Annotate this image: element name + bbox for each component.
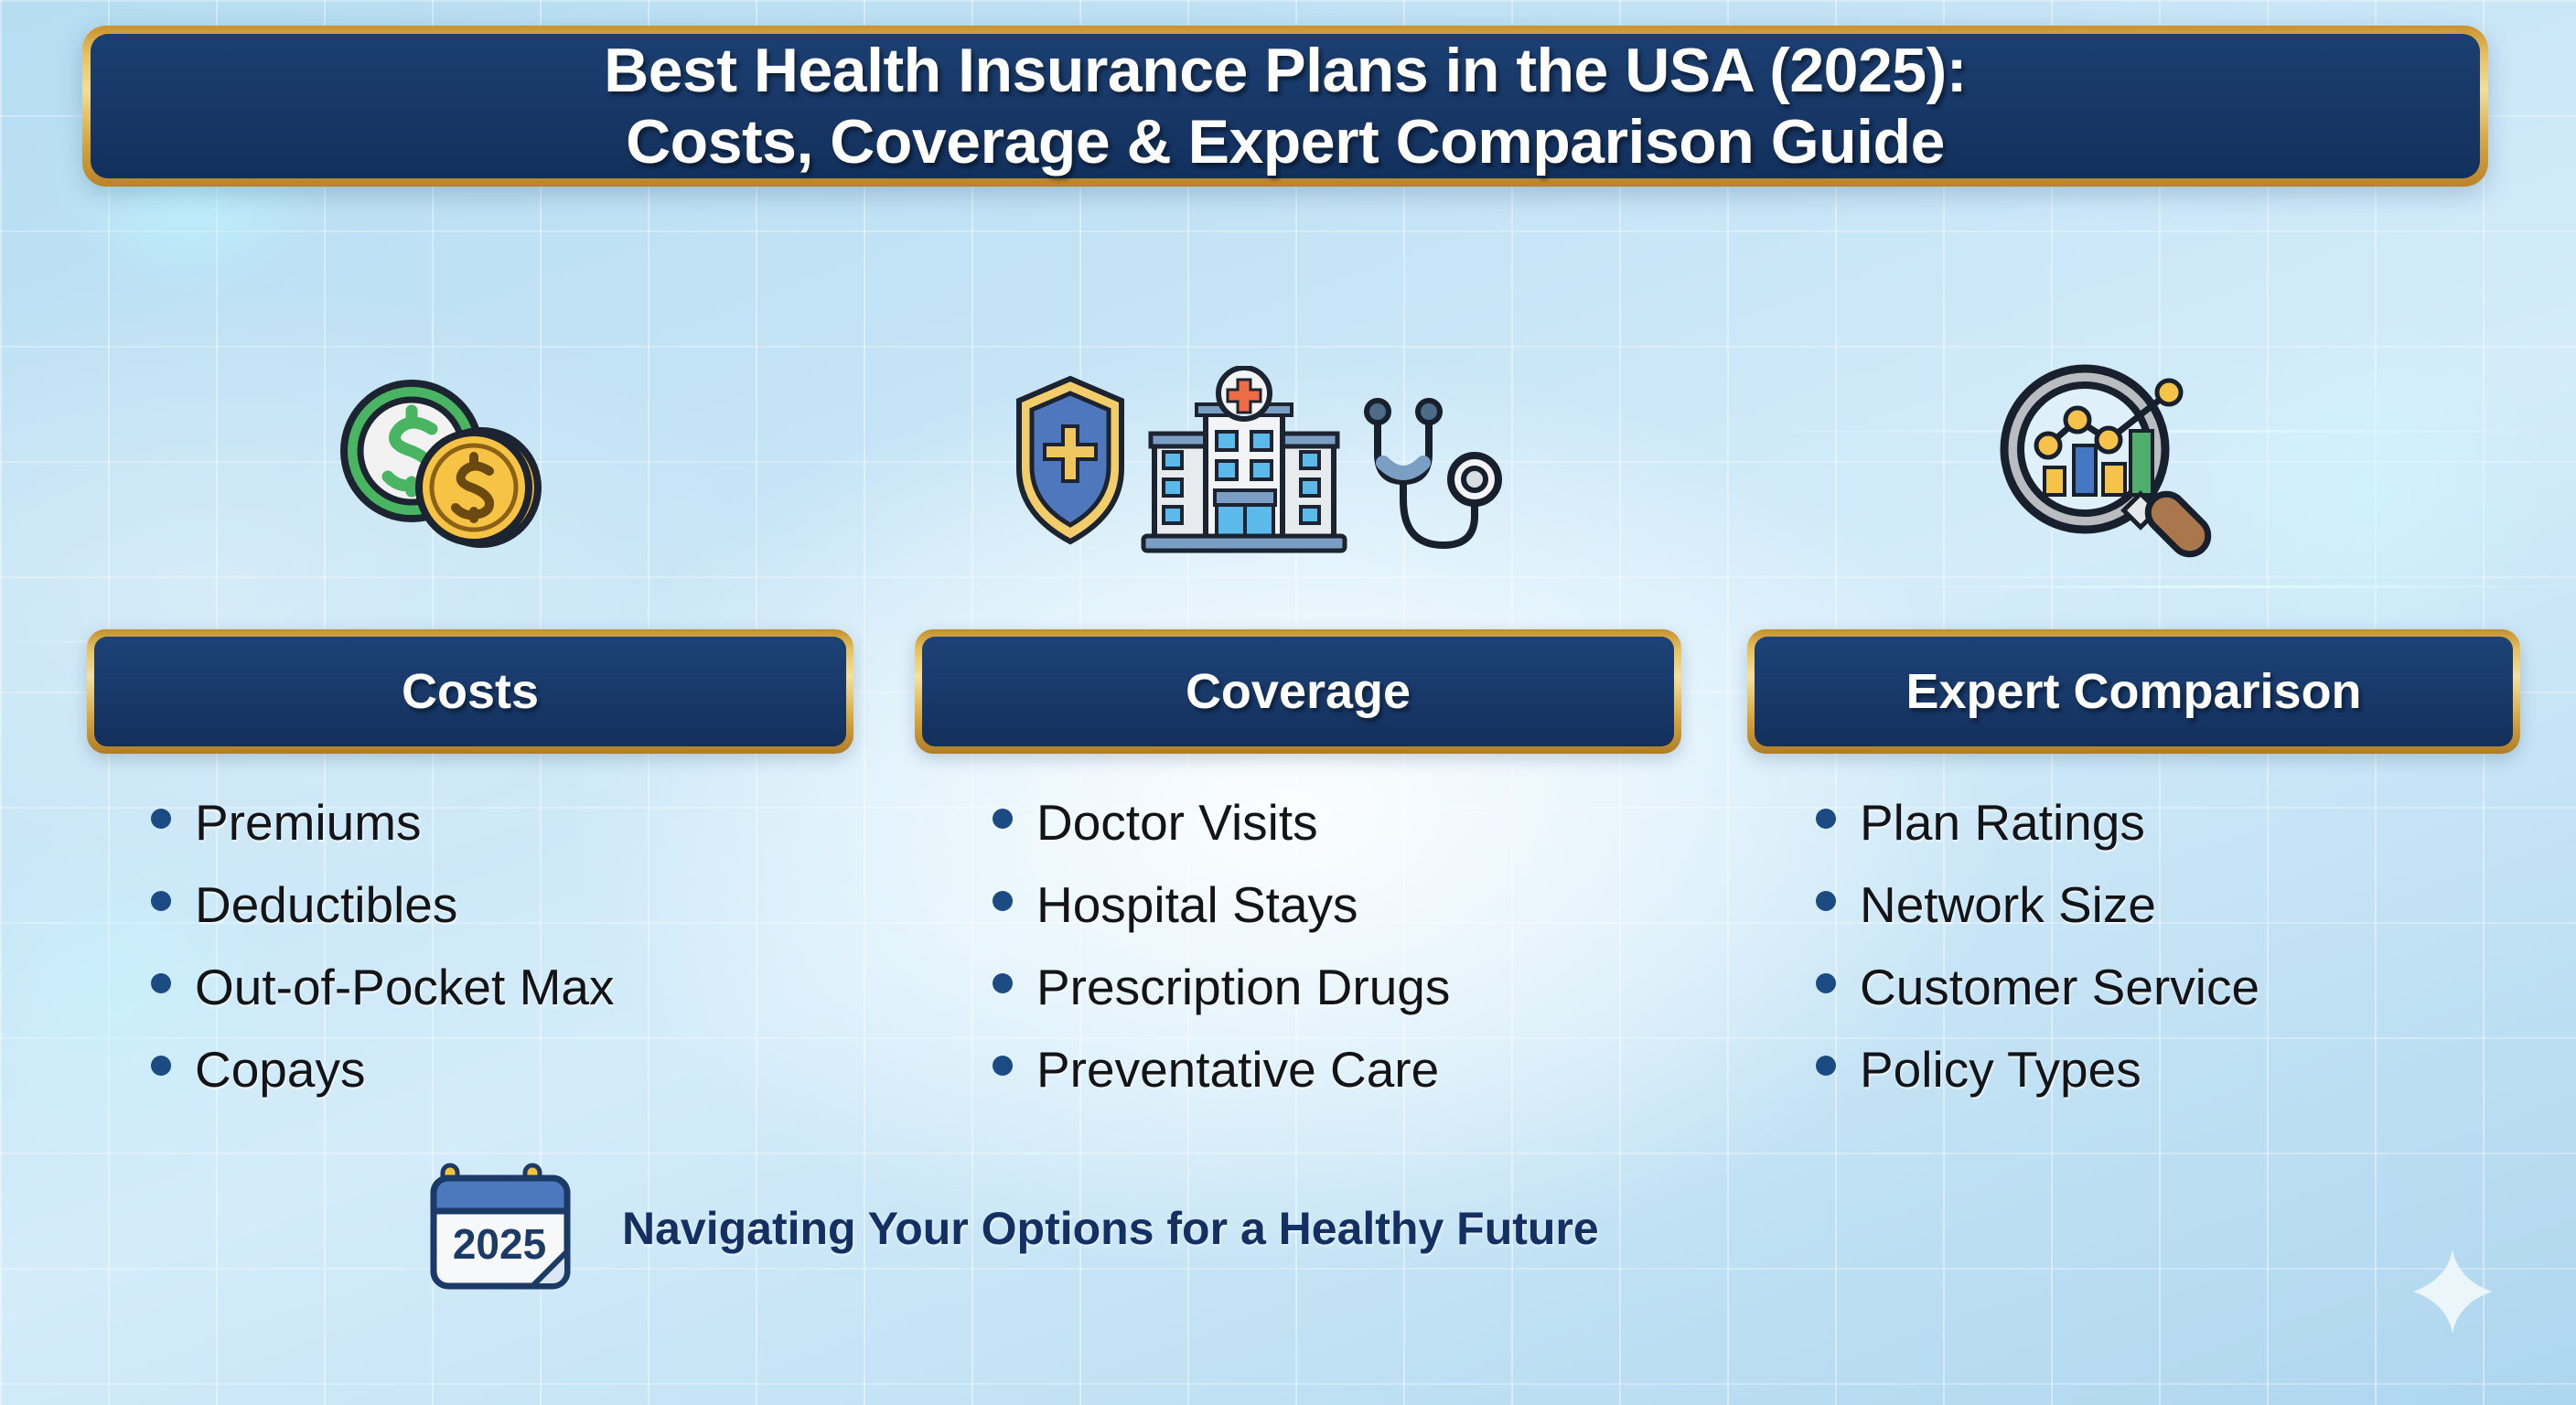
list-item: Doctor Visits [993, 794, 1450, 876]
list-item-label: Copays [195, 1041, 365, 1098]
list-item: Customer Service [1816, 959, 2259, 1041]
section-heading-coverage: Coverage [1186, 663, 1411, 720]
section-heading-expert-comparison: Expert Comparison [1905, 663, 2361, 720]
page-title-line-2: Costs, Coverage & Expert Comparison Guid… [626, 106, 1945, 177]
section-banner-costs-inner: Costs [94, 637, 846, 746]
page-title-line-1: Best Health Insurance Plans in the USA (… [604, 35, 1967, 106]
column-expert-comparison-icon-area [1692, 348, 2516, 576]
footer-tagline: Navigating Your Options for a Healthy Fu… [622, 1202, 1599, 1255]
list-item: Out-of-Pocket Max [151, 959, 614, 1041]
list-item-label: Customer Service [1860, 959, 2259, 1015]
bullet-dot-icon [1816, 973, 1836, 993]
bullet-dot-icon [993, 973, 1013, 993]
column-costs-icon-area [26, 348, 849, 576]
list-item-label: Doctor Visits [1036, 794, 1318, 851]
bullet-dot-icon [1816, 1056, 1836, 1076]
bullet-dot-icon [1816, 809, 1836, 829]
bullet-dot-icon [993, 809, 1013, 829]
bullet-dot-icon [993, 891, 1013, 911]
bullet-dot-icon [151, 809, 171, 829]
list-item-label: Hospital Stays [1036, 876, 1358, 933]
list-item: Plan Ratings [1816, 794, 2259, 876]
list-item: Hospital Stays [993, 876, 1450, 959]
section-banner-coverage-inner: Coverage [922, 637, 1674, 746]
shield-hospital-stethoscope-icon [851, 348, 1674, 576]
section-banner-costs: Costs [87, 629, 853, 754]
list-item-label: Out-of-Pocket Max [195, 959, 614, 1015]
footer: 2025 Navigating Your Options for a Healt… [430, 1162, 1599, 1294]
bullet-list-coverage: Doctor Visits Hospital Stays Prescriptio… [993, 794, 1450, 1123]
title-banner-inner: Best Health Insurance Plans in the USA (… [91, 34, 2480, 178]
list-item-label: Deductibles [195, 876, 457, 933]
calendar-year-label: 2025 [453, 1220, 546, 1268]
calendar-icon: 2025 [430, 1162, 576, 1294]
bullet-dot-icon [151, 891, 171, 911]
section-banner-coverage: Coverage [915, 629, 1681, 754]
bullet-dot-icon [151, 1056, 171, 1076]
list-item-label: Prescription Drugs [1036, 959, 1450, 1015]
infographic-canvas: Best Health Insurance Plans in the USA (… [0, 0, 2576, 1405]
list-item: Copays [151, 1041, 614, 1123]
section-heading-costs: Costs [402, 663, 539, 720]
background-light-streak [1875, 585, 2571, 588]
section-banner-expert-comparison: Expert Comparison [1747, 629, 2520, 754]
list-item-label: Policy Types [1860, 1041, 2141, 1098]
list-item: Prescription Drugs [993, 959, 1450, 1041]
list-item: Premiums [151, 794, 614, 876]
magnifier-chart-icon [1692, 348, 2516, 576]
column-coverage-icon-area [851, 348, 1674, 576]
bullet-list-expert-comparison: Plan Ratings Network Size Customer Servi… [1816, 794, 2259, 1123]
bullet-list-costs: Premiums Deductibles Out-of-Pocket Max C… [151, 794, 614, 1123]
list-item: Preventative Care [993, 1041, 1450, 1123]
list-item-label: Plan Ratings [1860, 794, 2145, 851]
list-item: Network Size [1816, 876, 2259, 959]
title-banner: Best Health Insurance Plans in the USA (… [82, 26, 2488, 187]
bullet-dot-icon [1816, 891, 1836, 911]
list-item-label: Preventative Care [1036, 1041, 1439, 1098]
bullet-dot-icon [993, 1056, 1013, 1076]
list-item: Policy Types [1816, 1041, 2259, 1123]
money-coins-icon [26, 348, 849, 576]
sparkle-icon [2413, 1249, 2492, 1334]
bullet-dot-icon [151, 973, 171, 993]
list-item-label: Premiums [195, 794, 422, 851]
section-banner-expert-comparison-inner: Expert Comparison [1755, 637, 2513, 746]
list-item: Deductibles [151, 876, 614, 959]
list-item-label: Network Size [1860, 876, 2156, 933]
